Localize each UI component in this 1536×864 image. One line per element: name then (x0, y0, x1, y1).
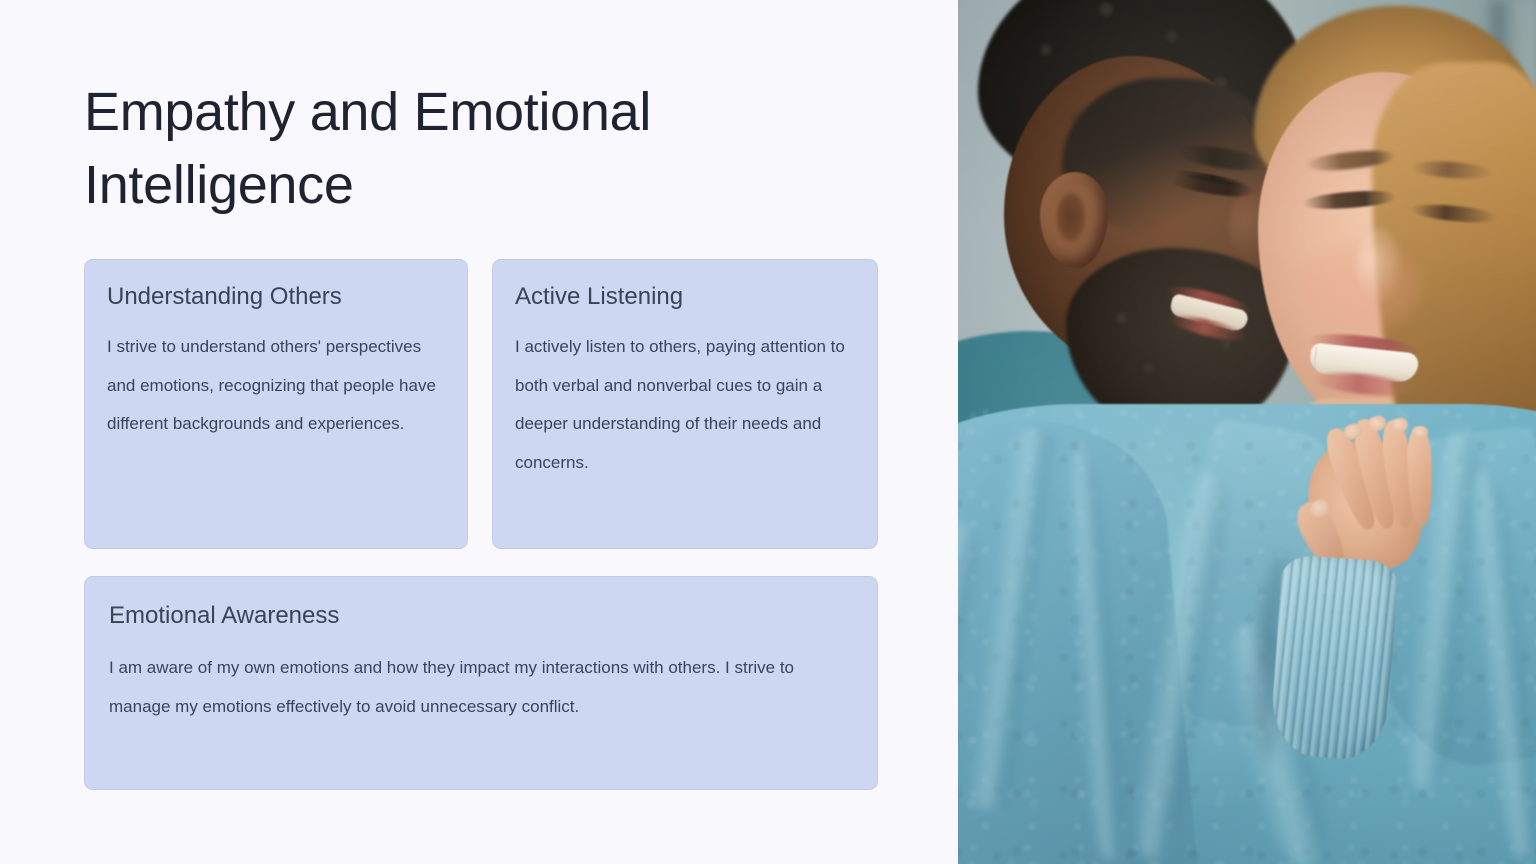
woman-nose (1356, 228, 1402, 304)
card-body: I strive to understand others' perspecti… (107, 328, 445, 444)
card-body: I am aware of my own emotions and how th… (109, 649, 853, 726)
cuff-ribbing (1269, 554, 1399, 762)
card-title: Understanding Others (107, 282, 445, 312)
card-emotional-awareness: Emotional Awareness I am aware of my own… (84, 576, 878, 790)
couple-photo (958, 0, 1536, 864)
slide: Empathy and Emotional Intelligence Under… (0, 0, 1536, 864)
card-body: I actively listen to others, paying atte… (515, 328, 855, 482)
man-ear-inner (1056, 192, 1086, 242)
card-active-listening: Active Listening I actively listen to ot… (492, 259, 878, 549)
card-understanding-others: Understanding Others I strive to underst… (84, 259, 468, 549)
fingernail (1412, 426, 1428, 440)
card-title: Active Listening (515, 282, 855, 312)
card-title: Emotional Awareness (109, 601, 853, 631)
content-pane: Empathy and Emotional Intelligence Under… (0, 0, 958, 864)
page-title: Empathy and Emotional Intelligence (84, 76, 784, 222)
